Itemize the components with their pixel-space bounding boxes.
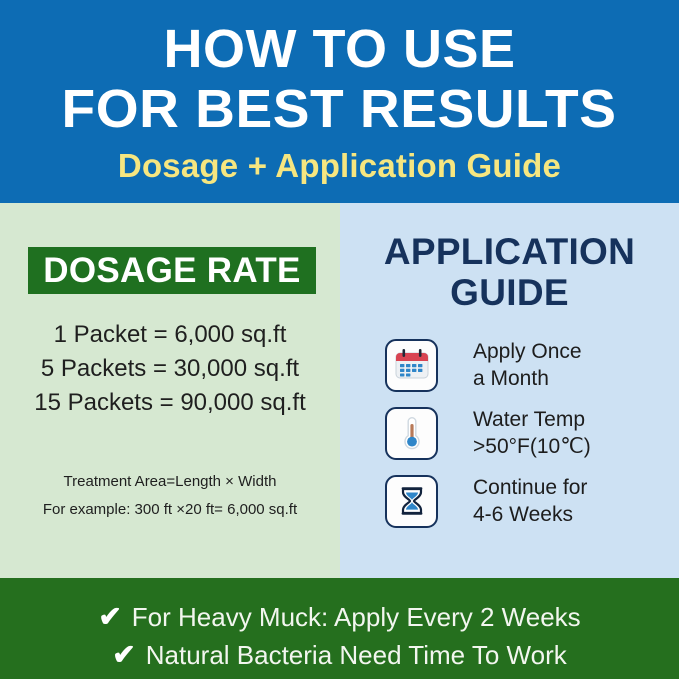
footer-tip-label: Natural Bacteria Need Time To Work <box>146 642 567 668</box>
dosage-rate-item: 15 Packets = 90,000 sq.ft <box>0 386 340 420</box>
check-icon: ✔ <box>112 641 135 669</box>
dosage-note-formula: Treatment Area=Length × Width <box>0 468 340 496</box>
thermometer-icon <box>385 407 438 460</box>
application-item-line-2: >50°F(10℃) <box>473 433 591 460</box>
dosage-rate-item: 1 Packet = 6,000 sq.ft <box>0 318 340 352</box>
dosage-rate-item: 5 Packets = 30,000 sq.ft <box>0 352 340 386</box>
poster-footer: ✔ For Heavy Muck: Apply Every 2 Weeks ✔ … <box>0 578 679 679</box>
header-subtitle: Dosage + Application Guide <box>118 147 561 185</box>
application-item-continue-weeks: Continue for 4-6 Weeks <box>340 467 679 535</box>
application-item-text: Water Temp >50°F(10℃) <box>473 406 591 461</box>
dosage-note-example: For example: 300 ft ×20 ft= 6,000 sq.ft <box>0 496 340 524</box>
application-item-text: Apply Once a Month <box>473 338 582 393</box>
application-item-text: Continue for 4-6 Weeks <box>473 474 587 529</box>
dosage-rate-banner: DOSAGE RATE <box>28 247 316 294</box>
application-item-line-1: Continue for <box>473 474 587 501</box>
application-item-line-1: Water Temp <box>473 406 591 433</box>
footer-tip-label: For Heavy Muck: Apply Every 2 Weeks <box>132 604 581 630</box>
application-guide-panel: APPLICATION GUIDE <box>340 203 679 578</box>
hourglass-icon <box>385 475 438 528</box>
application-item-line-2: 4-6 Weeks <box>473 501 587 528</box>
application-guide-title-line-2: GUIDE <box>340 272 679 313</box>
dosage-rate-notes: Treatment Area=Length × Width For exampl… <box>0 468 340 524</box>
dosage-rate-list: 1 Packet = 6,000 sq.ft 5 Packets = 30,00… <box>0 318 340 420</box>
application-guide-title: APPLICATION GUIDE <box>340 231 679 314</box>
poster-body: DOSAGE RATE 1 Packet = 6,000 sq.ft 5 Pac… <box>0 203 679 578</box>
header-title-line-2: FOR BEST RESULTS <box>62 82 617 136</box>
footer-tip: ✔ For Heavy Muck: Apply Every 2 Weeks <box>98 603 580 631</box>
dosage-rate-panel: DOSAGE RATE 1 Packet = 6,000 sq.ft 5 Pac… <box>0 203 340 578</box>
footer-tip: ✔ Natural Bacteria Need Time To Work <box>112 641 566 669</box>
dosage-rate-banner-label: DOSAGE RATE <box>43 253 300 288</box>
application-item-water-temp: Water Temp >50°F(10℃) <box>340 399 679 467</box>
poster-header: HOW TO USE FOR BEST RESULTS Dosage + App… <box>0 0 679 203</box>
application-item-line-1: Apply Once <box>473 338 582 365</box>
application-guide-title-line-1: APPLICATION <box>340 231 679 272</box>
application-item-line-2: a Month <box>473 365 582 392</box>
header-title-line-1: HOW TO USE <box>163 22 515 76</box>
calendar-icon <box>385 339 438 392</box>
application-guide-items: Apply Once a Month Water Temp <box>340 331 679 535</box>
check-icon: ✔ <box>98 603 121 631</box>
application-item-apply-once-a-month: Apply Once a Month <box>340 331 679 399</box>
infographic-poster: HOW TO USE FOR BEST RESULTS Dosage + App… <box>0 0 679 679</box>
